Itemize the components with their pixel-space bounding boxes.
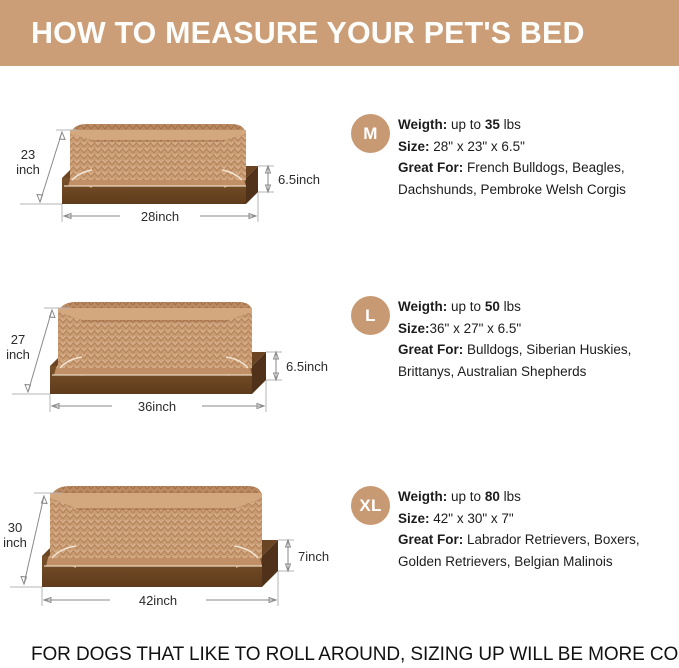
weight-value: 35 [485, 117, 500, 132]
size-line-xl: Size: 42" x 30" x 7" [398, 508, 679, 530]
weight-unit: lbs [504, 299, 521, 314]
dim-depth-value: 30 [8, 520, 22, 535]
bed-illustration-l: 27 inch 36inch 6.5inch [0, 282, 340, 442]
size-badge-m: M [351, 114, 390, 153]
weight-label: Weigth: [398, 117, 447, 132]
size-value: 36" x 27" x 6.5" [430, 321, 522, 336]
weight-label: Weigth: [398, 489, 447, 504]
weight-value: 80 [485, 489, 500, 504]
weight-unit: lbs [504, 117, 521, 132]
size-value: 28" x 23" x 6.5" [430, 139, 525, 154]
size-section-m: 23 inch 28inch 6.5inch [0, 100, 679, 260]
weight-label: Weigth: [398, 299, 447, 314]
weight-prefix: up to [451, 489, 481, 504]
dim-height-value: 6.5inch [286, 359, 328, 374]
great-for-line-m: Great For: French Bulldogs, Beagles, Dac… [398, 157, 679, 200]
great-for-line-xl: Great For: Labrador Retrievers, Boxers, … [398, 529, 679, 572]
footer-note: FOR DOGS THAT LIKE TO ROLL AROUND, SIZIN… [31, 642, 671, 668]
great-for-label: Great For: [398, 342, 463, 357]
info-lines-m: Weigth: up to 35 lbs Size: 28" x 23" x 6… [398, 114, 679, 200]
dim-depth-value: 27 [11, 332, 25, 347]
dim-depth-unit: inch [3, 535, 27, 550]
size-badge-l: L [351, 296, 390, 335]
great-for-label: Great For: [398, 160, 463, 175]
dim-width-value: 42inch [139, 593, 177, 608]
size-section-xl: 30 inch 42inch 7inch XL [0, 472, 679, 637]
page-title: HOW TO MEASURE YOUR PET'S BED [31, 13, 585, 53]
dim-width-value: 28inch [141, 209, 179, 224]
dimension-height-xl: 7inch [278, 540, 329, 571]
weight-line-m: Weigth: up to 35 lbs [398, 114, 679, 136]
dim-depth-unit: inch [6, 347, 30, 362]
size-value: 42" x 30" x 7" [430, 511, 514, 526]
dimension-height-m: 6.5inch [258, 166, 320, 192]
bed-illustration-xl: 30 inch 42inch 7inch [0, 472, 340, 632]
size-line-m: Size: 28" x 23" x 6.5" [398, 136, 679, 158]
dim-height-value: 7inch [298, 549, 329, 564]
bed-illustration-m: 23 inch 28inch 6.5inch [0, 100, 340, 260]
size-section-l: 27 inch 36inch 6.5inch L [0, 282, 679, 447]
size-label: Size: [398, 139, 430, 154]
weight-prefix: up to [451, 299, 481, 314]
dimension-height-l: 6.5inch [266, 352, 328, 380]
weight-value: 50 [485, 299, 500, 314]
size-label: Size: [398, 321, 430, 336]
info-lines-l: Weigth: up to 50 lbs Size:36" x 27" x 6.… [398, 296, 679, 382]
size-badge-xl: XL [351, 486, 390, 525]
dim-width-value: 36inch [138, 399, 176, 414]
weight-prefix: up to [451, 117, 481, 132]
dim-height-value: 6.5inch [278, 172, 320, 187]
dim-depth-unit: inch [16, 162, 40, 177]
great-for-label: Great For: [398, 532, 463, 547]
weight-line-xl: Weigth: up to 80 lbs [398, 486, 679, 508]
weight-unit: lbs [504, 489, 521, 504]
dim-depth-value: 23 [21, 147, 35, 162]
info-lines-xl: Weigth: up to 80 lbs Size: 42" x 30" x 7… [398, 486, 679, 572]
weight-line-l: Weigth: up to 50 lbs [398, 296, 679, 318]
great-for-line-l: Great For: Bulldogs, Siberian Huskies, B… [398, 339, 679, 382]
size-line-l: Size:36" x 27" x 6.5" [398, 318, 679, 340]
size-label: Size: [398, 511, 430, 526]
